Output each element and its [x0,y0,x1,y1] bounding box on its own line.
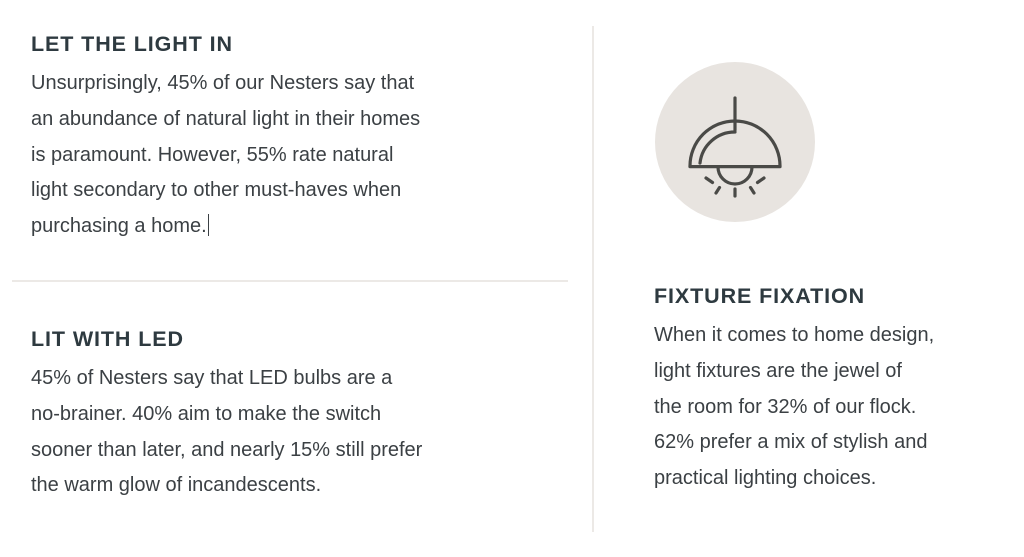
body-line: 45% of Nesters say that LED bulbs are a [31,361,551,397]
body-line: the warm glow of incandescents. [31,468,551,504]
section-fixture-fixation: FIXTURE FIXATION When it comes to home d… [654,283,1004,497]
section-body[interactable]: 45% of Nesters say that LED bulbs are a … [31,361,551,504]
body-line-text: purchasing a home. [31,215,207,237]
section-heading: LET THE LIGHT IN [31,31,551,57]
pendant-lamp-icon [655,62,815,222]
body-line: practical lighting choices. [654,461,1004,497]
column-divider [592,26,594,532]
section-heading: FIXTURE FIXATION [654,283,1004,309]
body-line: no-brainer. 40% aim to make the switch [31,397,551,433]
body-line-last: purchasing a home. [31,209,551,245]
lamp-badge [655,62,815,222]
body-line: When it comes to home design, [654,318,1004,354]
section-body[interactable]: When it comes to home design, light fixt… [654,318,1004,497]
body-line: light secondary to other must-haves when [31,173,551,209]
body-line: 62% prefer a mix of stylish and [654,425,1004,461]
right-column: FIXTURE FIXATION When it comes to home d… [654,0,1004,557]
body-line: sooner than later, and nearly 15% still … [31,433,551,469]
infographic-page: LET THE LIGHT IN Unsurprisingly, 45% of … [0,0,1024,557]
section-heading: LIT WITH LED [31,326,551,352]
section-divider [12,280,568,282]
body-line: is paramount. However, 55% rate natural [31,138,551,174]
section-body[interactable]: Unsurprisingly, 45% of our Nesters say t… [31,66,551,245]
body-line: an abundance of natural light in their h… [31,102,551,138]
text-caret [208,214,210,236]
left-column: LET THE LIGHT IN Unsurprisingly, 45% of … [31,0,571,557]
body-line: Unsurprisingly, 45% of our Nesters say t… [31,66,551,102]
body-line: the room for 32% of our flock. [654,390,1004,426]
section-lit-with-led: LIT WITH LED 45% of Nesters say that LED… [31,326,551,504]
body-line: light fixtures are the jewel of [654,354,1004,390]
section-let-the-light-in: LET THE LIGHT IN Unsurprisingly, 45% of … [31,31,551,245]
